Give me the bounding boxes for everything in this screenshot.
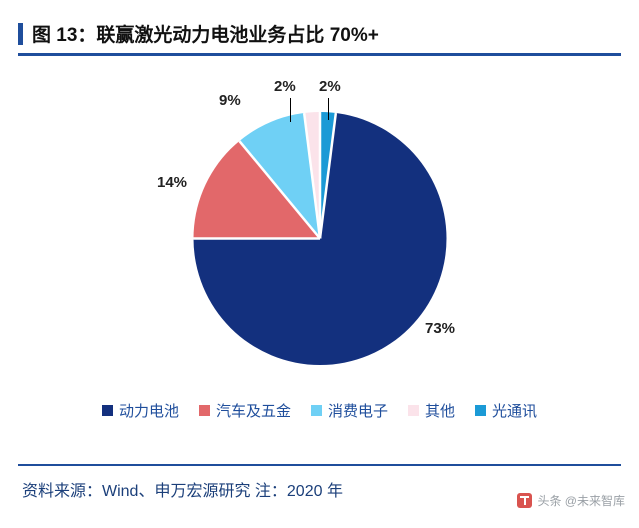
legend-swatch-icon-3 xyxy=(408,405,419,416)
legend-item-3[interactable]: 其他 xyxy=(408,400,455,421)
pie-label-3: 2% xyxy=(274,78,296,95)
legend-swatch-icon-0 xyxy=(102,405,113,416)
legend-item-0[interactable]: 动力电池 xyxy=(102,400,179,421)
leader-line-optical xyxy=(328,98,329,120)
legend-label-1: 汽车及五金 xyxy=(216,400,291,421)
footer-divider xyxy=(18,464,621,466)
legend-swatch-icon-2 xyxy=(311,405,322,416)
legend-item-1[interactable]: 汽车及五金 xyxy=(199,400,291,421)
legend-item-4[interactable]: 光通讯 xyxy=(475,400,537,421)
watermark-text: 头条 @未来智库 xyxy=(537,492,625,509)
page-title: 图 13：联赢激光动力电池业务占比 70%+ xyxy=(32,20,379,47)
watermark: 头条 @未来智库 xyxy=(517,492,625,509)
legend-swatch-icon-4 xyxy=(475,405,486,416)
legend-label-0: 动力电池 xyxy=(119,400,179,421)
leader-line-other xyxy=(290,98,291,122)
chart-page: 图 13：联赢激光动力电池业务占比 70%+ 73% 14% 9% 2% 2% … xyxy=(0,0,639,528)
pie-disc xyxy=(193,112,446,365)
pie-label-1: 14% xyxy=(157,174,187,191)
source-note: 资料来源：Wind、申万宏源研究 注：2020 年 xyxy=(22,477,343,501)
pie-graphic xyxy=(193,112,446,365)
pie-chart: 73% 14% 9% 2% 2% 动力电池 汽车及五金 消费电子 其他 xyxy=(18,62,621,402)
pie-label-4: 2% xyxy=(319,78,341,95)
title-accent-bar xyxy=(18,23,23,45)
legend-swatch-icon-1 xyxy=(199,405,210,416)
chart-legend: 动力电池 汽车及五金 消费电子 其他 光通讯 xyxy=(18,400,621,421)
pie-label-0: 73% xyxy=(425,320,455,337)
legend-label-3: 其他 xyxy=(425,400,455,421)
legend-label-4: 光通讯 xyxy=(492,400,537,421)
chart-title-bar: 图 13：联赢激光动力电池业务占比 70%+ xyxy=(18,14,621,56)
pie-label-2: 9% xyxy=(219,92,241,109)
legend-item-2[interactable]: 消费电子 xyxy=(311,400,388,421)
legend-label-2: 消费电子 xyxy=(328,400,388,421)
toutiao-logo-icon xyxy=(517,493,532,508)
